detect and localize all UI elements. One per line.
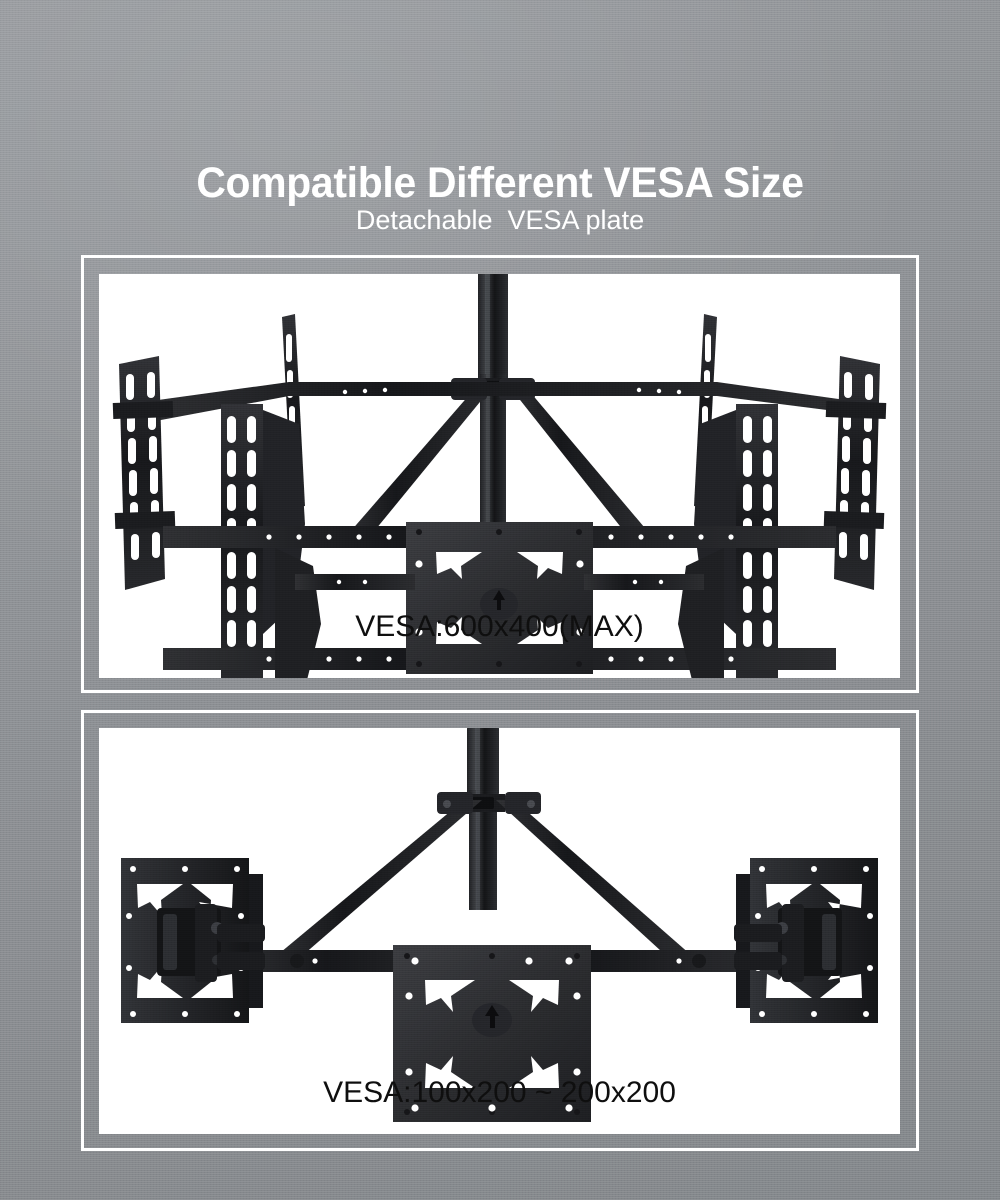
left-outer-rail: [113, 356, 176, 590]
panel-large-vesa-caption: VESA:600x400(MAX): [99, 610, 900, 644]
page-subtitle: Detachable VESA plate: [0, 205, 1000, 236]
center-pole: [461, 728, 505, 910]
panel-small-vesa-caption: VESA:100x200 ~ 200x200: [99, 1076, 900, 1110]
panel-small-vesa: VESA:100x200 ~ 200x200: [99, 728, 900, 1134]
center-pole: [473, 274, 513, 549]
right-small-vesa-plate: [734, 858, 878, 1023]
panel-large-vesa: VESA:600x400(MAX): [99, 274, 900, 678]
page-title: Compatible Different VESA Size: [25, 159, 975, 208]
left-small-vesa-plate: [121, 858, 265, 1023]
right-outer-rail: [824, 356, 887, 590]
mount-diagram-small-vesa: [99, 728, 900, 1134]
infographic-page: Compatible Different VESA Size Detachabl…: [0, 0, 1000, 1200]
center-vesa-plate: [406, 522, 593, 674]
